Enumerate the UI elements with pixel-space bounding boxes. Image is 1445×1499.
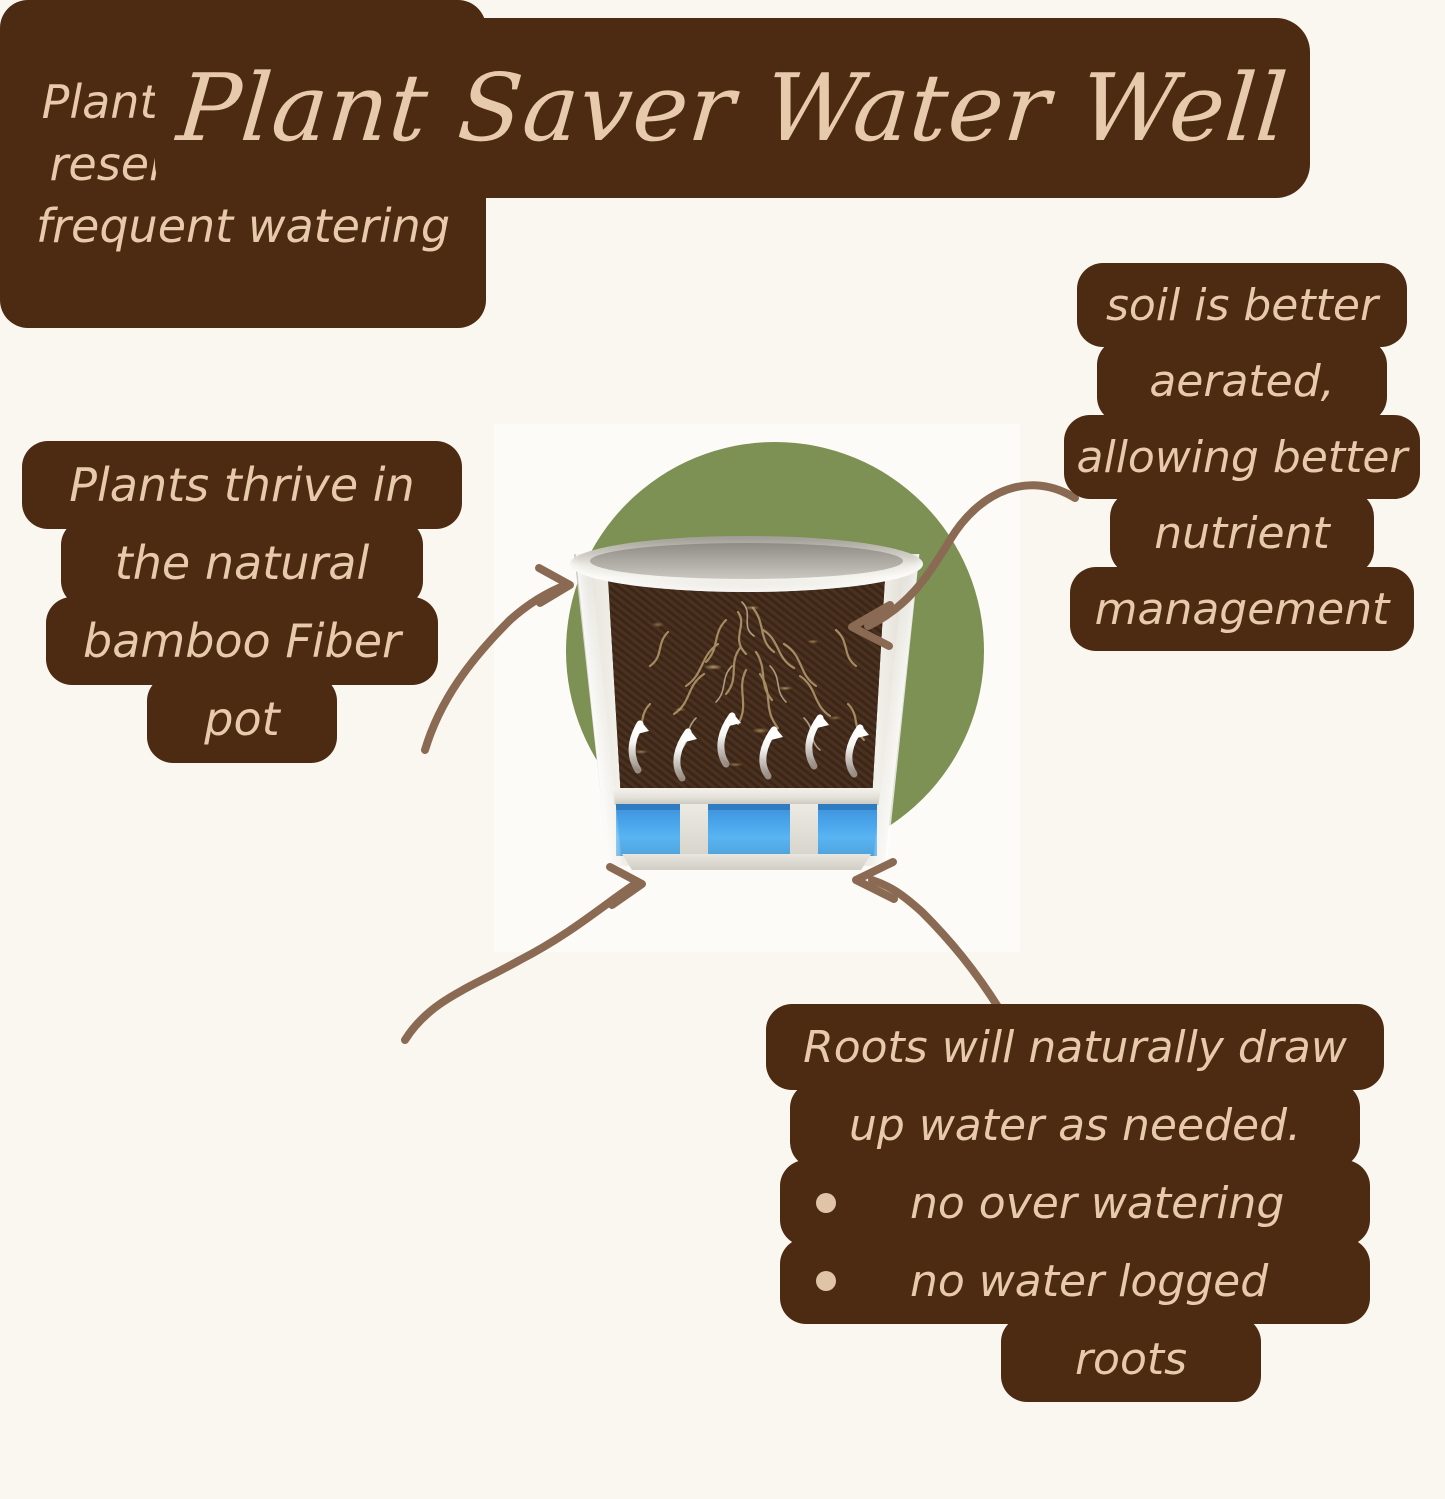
airflow-arrows <box>608 578 885 790</box>
bullet-label: no water logged <box>910 1256 1268 1307</box>
reservoir-divider <box>680 804 708 856</box>
bullet-dot-icon <box>816 1271 836 1291</box>
title-banner: Plant Saver Water Well <box>155 18 1310 198</box>
water-reservoir <box>616 804 877 856</box>
soil-aeration-note: soil is better aerated, allowing better … <box>1064 263 1420 651</box>
reservoir-shelf <box>612 788 881 805</box>
soil-layer <box>608 578 885 790</box>
bullet-dot-icon <box>816 1193 836 1213</box>
note-line: frequent watering <box>36 202 450 250</box>
plants-thrive-note: Plants thrive in the natural bamboo Fibe… <box>22 441 462 763</box>
pot-base <box>622 854 871 870</box>
illustration-panel <box>494 424 1020 952</box>
bullet-label: no over watering <box>910 1178 1284 1229</box>
reservoir-divider <box>790 804 818 856</box>
note-line: pot <box>147 675 337 763</box>
note-line: management <box>1070 567 1414 651</box>
note-bullet-item: no over watering <box>780 1160 1370 1246</box>
note-bullet-item: no water logged <box>780 1238 1370 1324</box>
reservoir-cell <box>818 804 877 856</box>
note-line: bamboo Fiber <box>46 597 438 685</box>
note-line: soil is better <box>1077 263 1407 347</box>
pot-cutaway-illustration <box>574 536 919 866</box>
note-line: Plants thrive in <box>22 441 462 529</box>
note-line: nutrient <box>1110 491 1374 575</box>
pot-rim-inner <box>590 543 903 579</box>
reservoir-cell <box>616 804 680 856</box>
note-bullet-overflow: roots <box>1001 1316 1261 1402</box>
note-line: up water as needed. <box>790 1082 1360 1168</box>
note-line: Roots will naturally draw <box>766 1004 1384 1090</box>
roots-draw-water-note: Roots will naturally draw up water as ne… <box>766 1004 1384 1402</box>
page-title: Plant Saver Water Well <box>174 62 1291 155</box>
reservoir-cell <box>708 804 790 856</box>
infographic-canvas: Plant Saver Water Well <box>0 0 1445 1499</box>
note-line: aerated, <box>1097 339 1387 423</box>
note-line: allowing better <box>1064 415 1420 499</box>
note-line: the natural <box>61 519 423 607</box>
